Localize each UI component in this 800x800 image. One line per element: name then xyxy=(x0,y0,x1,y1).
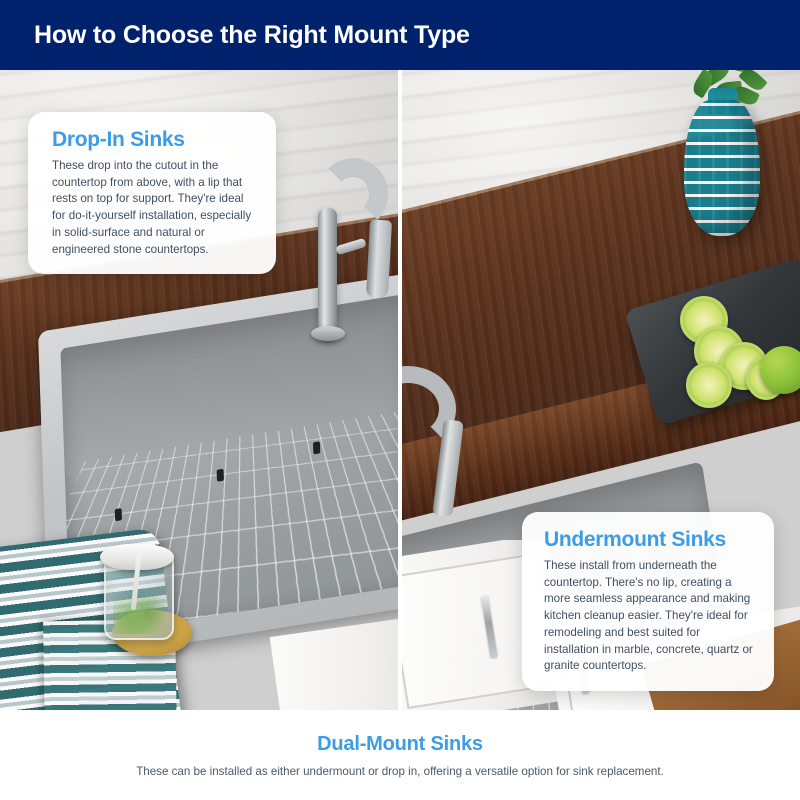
footer-subtitle: These can be installed as either undermo… xyxy=(0,764,800,780)
lime-slice xyxy=(686,362,732,408)
grid-foot xyxy=(313,442,320,455)
footer-section: Dual-Mount Sinks These can be installed … xyxy=(0,710,800,800)
callout-title-undermount: Undermount Sinks xyxy=(544,528,754,551)
callout-body-drop-in: These drop into the cutout in the counte… xyxy=(52,158,256,258)
lime-whole xyxy=(760,346,800,394)
white-cabinet-left xyxy=(270,616,398,710)
header-bar: How to Choose the Right Mount Type xyxy=(0,0,800,70)
callout-title-drop-in: Drop-In Sinks xyxy=(52,128,256,151)
callout-body-undermount: These install from underneath the counte… xyxy=(544,558,754,675)
faucet-spout-left xyxy=(366,219,392,298)
infographic-root: How to Choose the Right Mount Type xyxy=(0,0,800,800)
grid-foot xyxy=(114,508,121,521)
panel-divider xyxy=(398,70,402,710)
grid-foot xyxy=(217,469,224,482)
callout-card-undermount: Undermount Sinks These install from unde… xyxy=(522,512,774,691)
footer-title: Dual-Mount Sinks xyxy=(0,733,800,755)
page-title: How to Choose the Right Mount Type xyxy=(34,0,470,70)
jar-contents xyxy=(113,595,166,634)
faucet-column-left xyxy=(318,208,337,340)
faucet-base-left xyxy=(311,326,345,341)
callout-card-drop-in: Drop-In Sinks These drop into the cutout… xyxy=(28,112,276,274)
patterned-vase xyxy=(684,100,760,236)
